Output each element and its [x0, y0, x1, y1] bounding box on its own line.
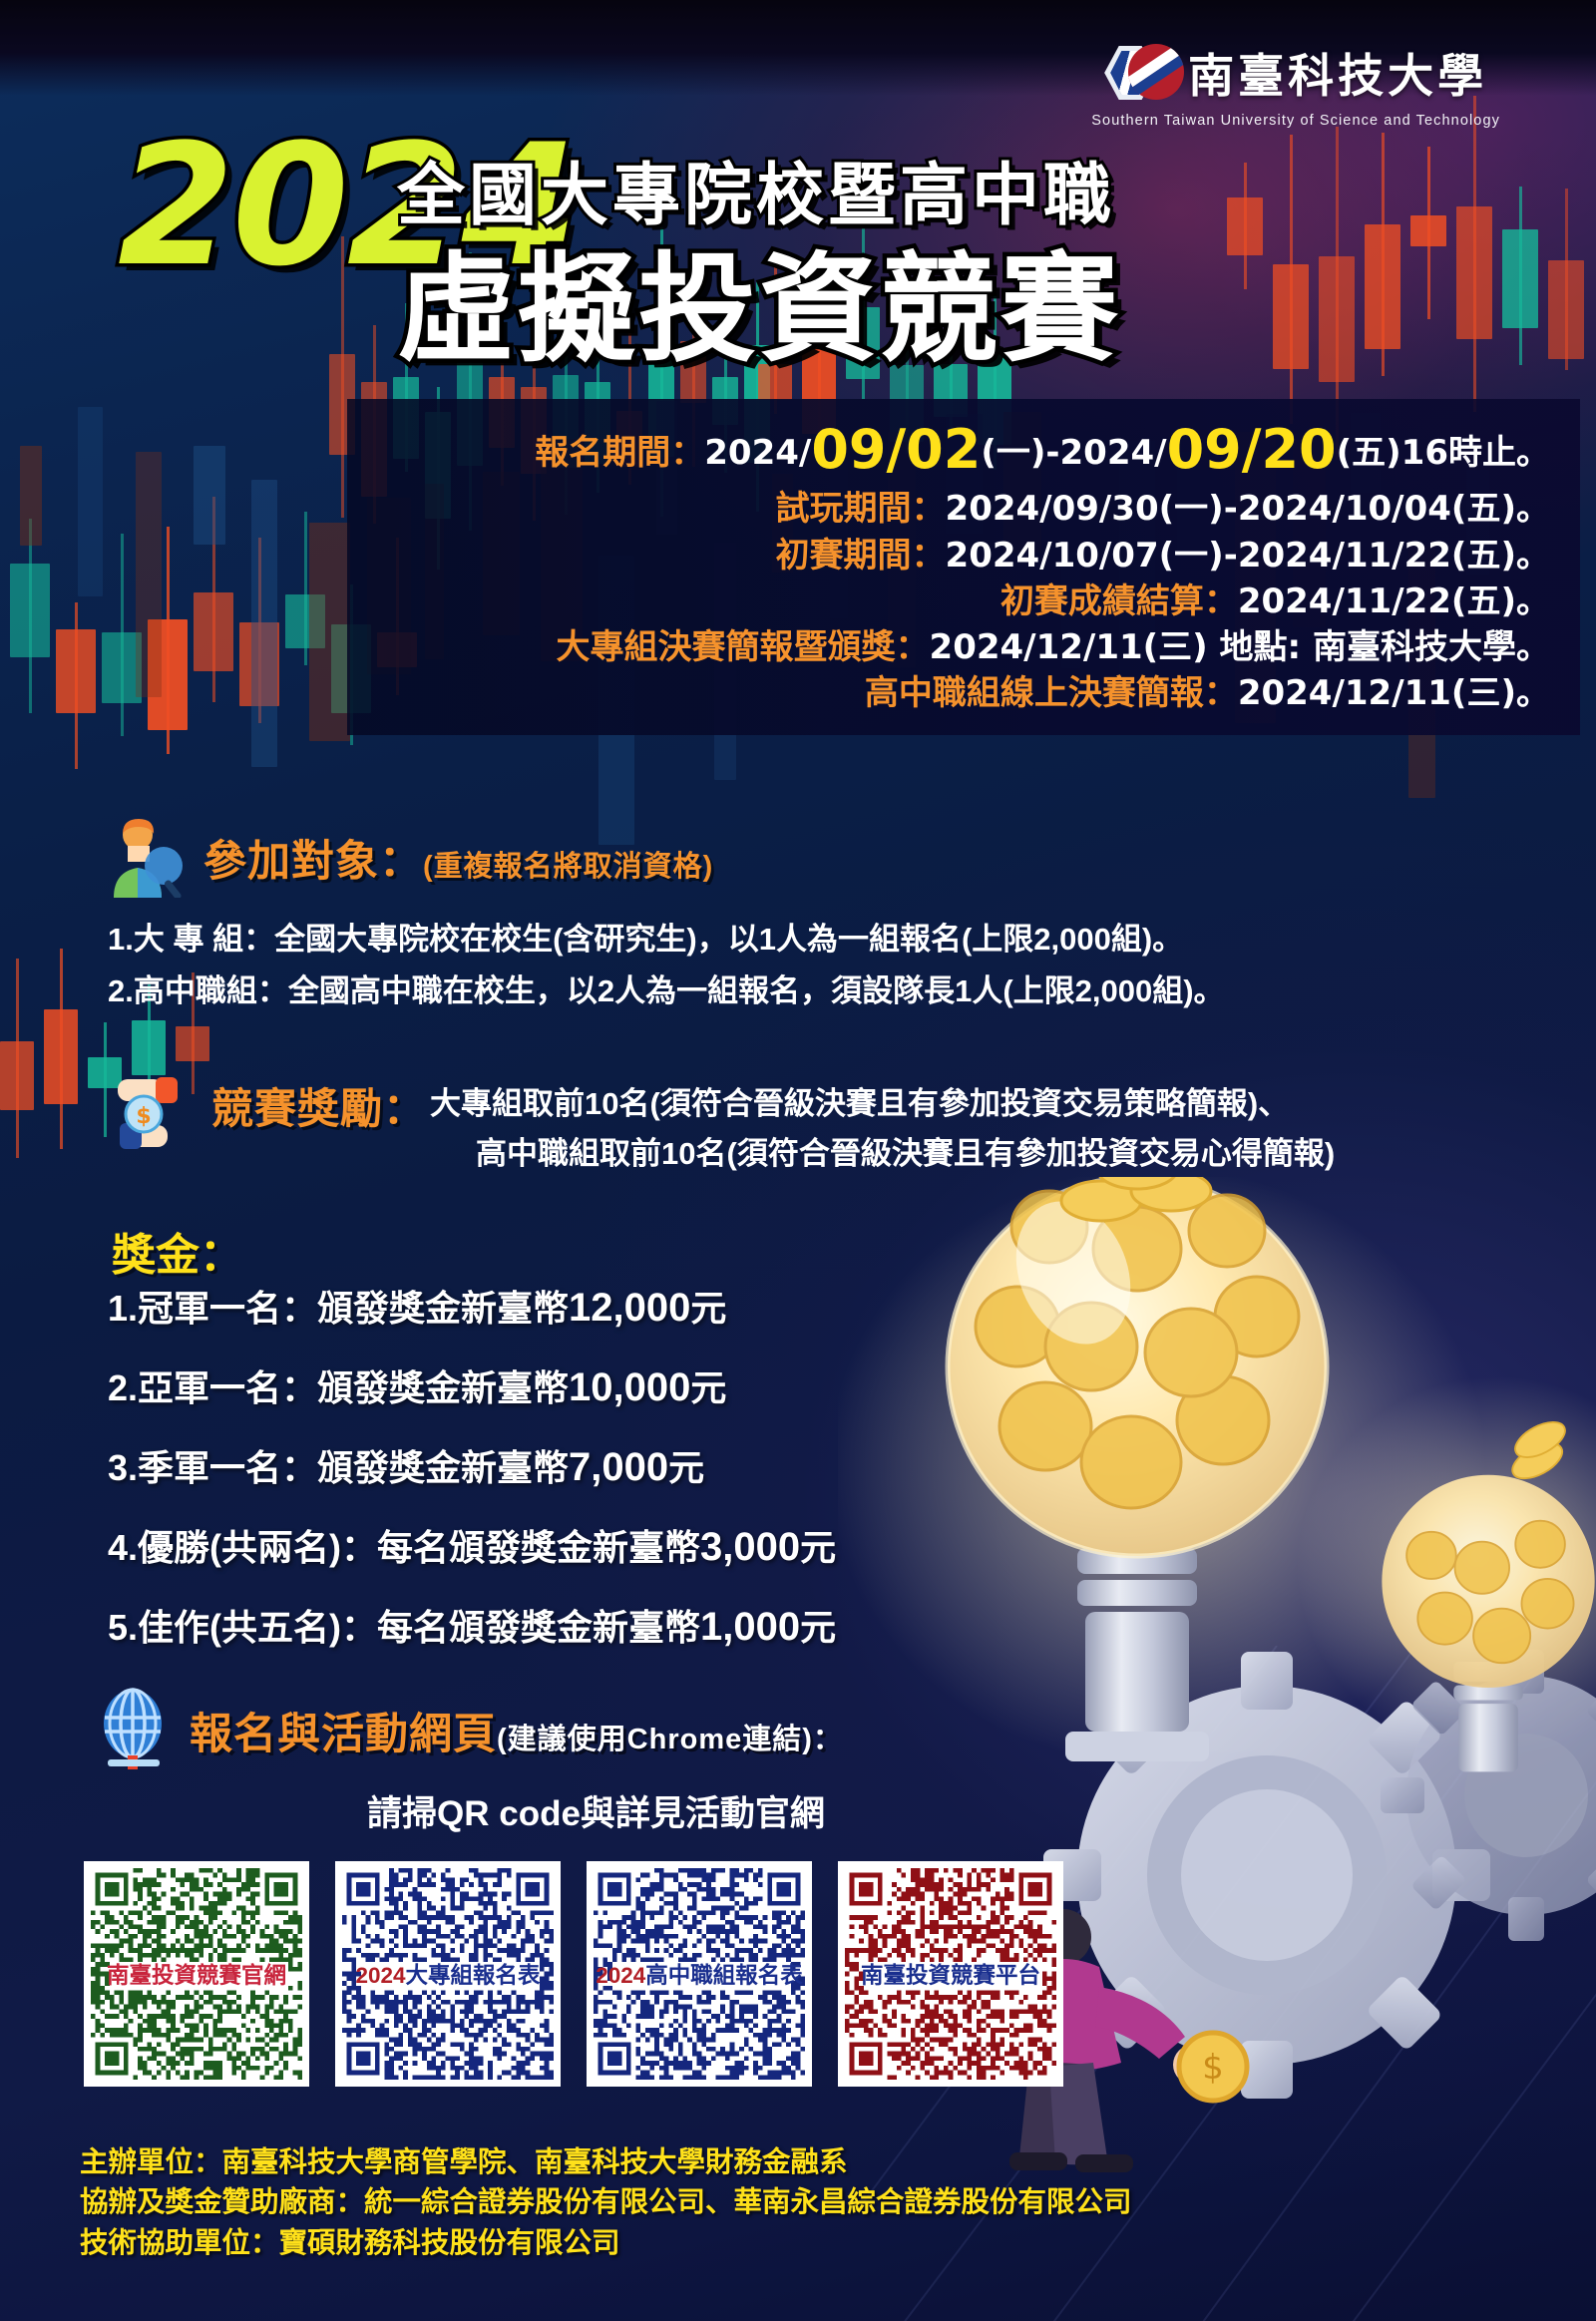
participants-section: 參加對象：(重複報名將取消資格) 1.大 專 組：全國大專院校在校生(含研究生)…	[108, 818, 1225, 1017]
registration-web-section: 報名與活動網頁(建議使用Chrome連結)： 請掃QR code與詳見活動官網	[100, 1688, 843, 1836]
schedule-value: 2024/10/07(一)-2024/11/22(五)。	[946, 536, 1550, 576]
schedule-value: 2024/12/11(三)。	[1238, 673, 1550, 713]
candlestick-body	[132, 1020, 166, 1074]
prize-item: 3.季軍一名：頒發獎金新臺幣7,000元	[108, 1446, 836, 1488]
background-bar	[251, 480, 277, 767]
participants-item: 2.高中職組：全國高中職在校生，以2人為一組報名，須設隊長1人(上限2,000組…	[108, 966, 1225, 1017]
candlestick-body	[1365, 224, 1400, 349]
participants-title-wrap: 參加對象：(重複報名將取消資格)	[203, 827, 713, 889]
schedule-registration-line: 報名期間：2024/09/02(一)-2024/09/20(五)16時止。	[347, 413, 1580, 486]
qr-college-form[interactable]: 2024大專組報名表	[335, 1861, 561, 2087]
qr-caption: 南臺投資競賽官網	[84, 1958, 309, 1990]
candlestick-body	[0, 1041, 34, 1111]
candlestick-wick	[1565, 189, 1568, 370]
prize-item: 2.亞軍一名：頒發獎金新臺幣10,000元	[108, 1366, 836, 1408]
footer-line: 協辦及獎金贊助廠商：統一綜合證券股份有限公司、華南永昌綜合證券股份有限公司	[80, 2182, 1132, 2222]
qr-caption: 2024高中職組報名表	[587, 1958, 812, 1990]
schedule-registration-suffix: (五)16時止。	[1337, 433, 1550, 473]
qr-caption: 南臺投資競賽平台	[838, 1958, 1063, 1990]
candlestick-wick	[167, 527, 170, 754]
schedule-registration-label: 報名期間：	[535, 433, 704, 473]
prize-item: 5.佳作(共五名)：每名頒發獎金新臺幣1,000元	[108, 1606, 836, 1648]
candlestick-wick	[212, 497, 215, 702]
schedule-row: 初賽成績結算：2024/11/22(五)。	[347, 579, 1580, 624]
candlestick-wick	[1519, 187, 1522, 366]
registration-web-title-wrap[interactable]: 報名與活動網頁(建議使用Chrome連結)：	[190, 1700, 843, 1761]
schedule-value: 2024/12/11(三) 地點: 南臺科技大學。	[930, 627, 1550, 667]
prize-item: 1.冠軍一名：頒發獎金新臺幣12,000元	[108, 1287, 836, 1329]
schedule-label: 高中職組線上決賽簡報：	[865, 673, 1238, 713]
background-bar	[78, 407, 103, 596]
schedule-row: 試玩期間：2024/09/30(一)-2024/10/04(五)。	[347, 486, 1580, 532]
globe-balloon-icon	[100, 1688, 172, 1773]
page-title: 虛擬投資競賽	[397, 213, 1121, 384]
schedule-registration-prefix: 2024/	[704, 433, 811, 473]
schedule-registration-mid: (一)-2024/	[981, 433, 1166, 473]
registration-web-title: 報名與活動網頁	[190, 1711, 497, 1758]
candlestick-body	[148, 619, 188, 730]
candlestick-body	[102, 632, 142, 703]
participants-title-note: (重複報名將取消資格)	[423, 851, 713, 883]
qr-platform[interactable]: 南臺投資競賽平台	[838, 1861, 1063, 2087]
poster-root: $ 南臺科技大學 Southern Taiwan University of S…	[0, 0, 1596, 2321]
registration-web-note: (建議使用Chrome連結)：	[497, 1724, 843, 1755]
schedule-row: 高中職組線上決賽簡報：2024/12/11(三)。	[347, 670, 1580, 716]
schedule-label: 初賽成績結算：	[1000, 581, 1238, 621]
schedule-label: 試玩期間：	[776, 489, 946, 529]
footer-line: 技術協助單位：寶碩財務科技股份有限公司	[80, 2223, 1132, 2263]
awards-line: 高中職組取前10名(須符合晉級決賽且有參加投資交易心得簡報)	[476, 1129, 1335, 1179]
prize-money-list: 1.冠軍一名：頒發獎金新臺幣12,000元 2.亞軍一名：頒發獎金新臺幣10,0…	[108, 1287, 836, 1686]
candlestick-body	[1548, 260, 1584, 359]
candlestick-body	[44, 1009, 78, 1104]
candlestick-wick	[104, 1022, 107, 1137]
schedule-row: 初賽期間：2024/10/07(一)-2024/11/22(五)。	[347, 533, 1580, 579]
prize-item: 4.優勝(共兩名)：每名頒發獎金新臺幣3,000元	[108, 1526, 836, 1568]
logo-english-name: Southern Taiwan University of Science an…	[1091, 113, 1500, 129]
candlestick-body	[239, 622, 279, 706]
schedule-registration-end: 09/20	[1167, 418, 1337, 481]
background-bar	[136, 452, 162, 697]
schedule-panel: 報名期間：2024/09/02(一)-2024/09/20(五)16時止。 試玩…	[347, 399, 1580, 735]
stust-logo-icon	[1104, 42, 1174, 104]
footer-line: 主辦單位：南臺科技大學商管學院、南臺科技大學財務金融系	[80, 2142, 1132, 2182]
qr-caption: 2024大專組報名表	[335, 1958, 561, 1990]
candlestick-body	[1456, 206, 1492, 340]
schedule-label: 大專組決賽簡報暨頒獎：	[557, 627, 930, 667]
candlestick-wick	[121, 534, 124, 736]
awards-title: 競賽獎勵：	[211, 1075, 426, 1136]
money-hands-icon: $	[112, 1075, 194, 1155]
candlestick-body	[194, 592, 233, 672]
logo-chinese-name: 南臺科技大學	[1188, 40, 1487, 106]
candlestick-body	[176, 1026, 209, 1061]
svg-text:$: $	[1202, 2048, 1224, 2088]
university-logo: 南臺科技大學 Southern Taiwan University of Sci…	[1091, 40, 1500, 129]
qr-official-site[interactable]: 南臺投資競賽官網	[84, 1861, 309, 2087]
candlestick-wick	[16, 959, 19, 1158]
prize-money-label: 獎金：	[112, 1219, 243, 1283]
schedule-label: 初賽期間：	[776, 536, 946, 576]
awards-section: $ 競賽獎勵： 大專組取前10名(須符合晉級決賽且有參加投資交易策略簡報)、 高…	[112, 1075, 1335, 1178]
schedule-value: 2024/11/22(五)。	[1238, 581, 1550, 621]
candlestick-wick	[1427, 147, 1430, 319]
candlestick-body	[10, 564, 50, 657]
background-bar	[194, 446, 225, 545]
schedule-registration-start: 09/02	[811, 418, 981, 481]
participants-title: 參加對象：	[203, 838, 423, 886]
qr-code-row: 南臺投資競賽官網 2024大專組報名表 2024高中職組報名表 南臺投資競賽平台	[84, 1861, 1063, 2087]
schedule-row: 大專組決賽簡報暨頒獎：2024/12/11(三) 地點: 南臺科技大學。	[347, 624, 1580, 670]
candlestick-wick	[60, 949, 63, 1149]
candlestick-wick	[1290, 135, 1293, 424]
participants-item: 1.大 專 組：全國大專院校在校生(含研究生)，以1人為一組報名(上限2,000…	[108, 914, 1225, 966]
candlestick-body	[1410, 215, 1446, 246]
candlestick-body	[1273, 264, 1309, 368]
candlestick-body	[1502, 229, 1538, 328]
schedule-value: 2024/09/30(一)-2024/10/04(五)。	[946, 489, 1550, 529]
candlestick-wick	[304, 512, 307, 665]
candlestick-body	[56, 629, 96, 713]
candlestick-wick	[1473, 96, 1476, 412]
candlestick-wick	[1244, 163, 1247, 289]
candlestick-wick	[1382, 133, 1385, 375]
candlestick-body	[285, 594, 325, 648]
candlestick-wick	[75, 602, 78, 768]
candlestick-body	[1319, 256, 1355, 382]
person-search-icon	[108, 818, 186, 898]
background-bar	[309, 523, 350, 741]
candlestick-body	[1227, 197, 1263, 255]
qr-highschool-form[interactable]: 2024高中職組報名表	[587, 1861, 812, 2087]
footer-organizers: 主辦單位：南臺科技大學商管學院、南臺科技大學財務金融系 協辦及獎金贊助廠商：統一…	[80, 2142, 1132, 2263]
candlestick-wick	[29, 519, 32, 713]
background-bar	[20, 446, 42, 545]
awards-line: 大專組取前10名(須符合晉級決賽且有參加投資交易策略簡報)、	[430, 1079, 1335, 1129]
registration-web-subline: 請掃QR code與詳見活動官網	[367, 1785, 843, 1836]
svg-text:$: $	[136, 1104, 151, 1129]
candlestick-wick	[258, 538, 261, 723]
